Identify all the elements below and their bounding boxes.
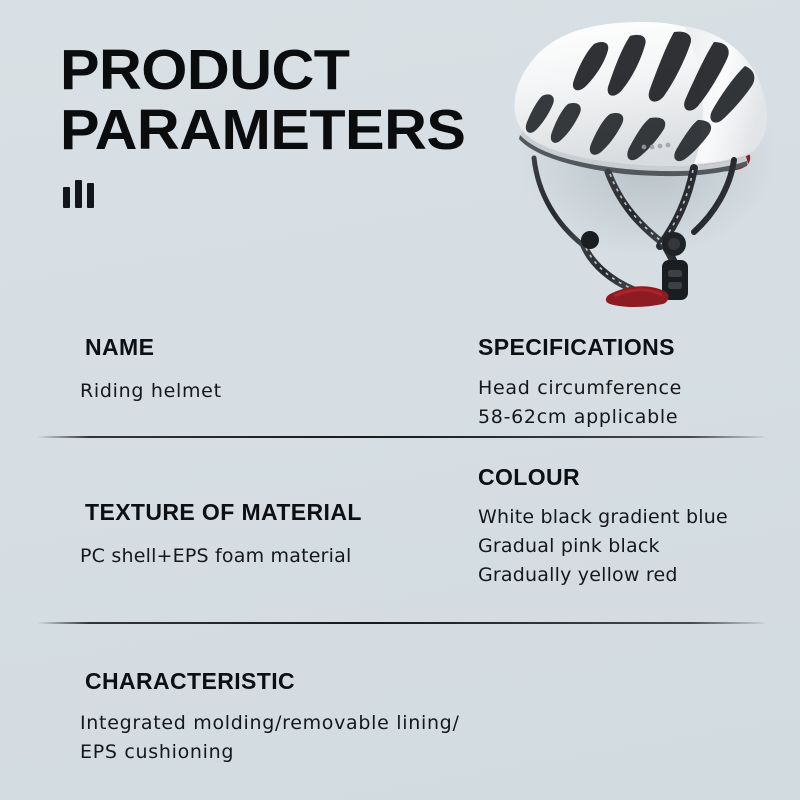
field-specifications-title: SPECIFICATIONS <box>478 334 788 361</box>
field-name-title: NAME <box>85 334 465 361</box>
field-texture-of-material: TEXTURE OF MATERIAL PC shell+EPS foam ma… <box>85 499 465 571</box>
page-title-line-1: PRODUCT <box>60 40 549 100</box>
page-title: PRODUCT PARAMETERS <box>60 40 530 208</box>
page-title-line-2: PARAMETERS <box>60 100 549 160</box>
field-colour-value-2: Gradual pink black <box>478 532 788 561</box>
field-characteristic-value-2: EPS cushioning <box>80 738 745 767</box>
field-specifications: SPECIFICATIONS Head circumference 58-62c… <box>478 334 788 432</box>
divider-2 <box>38 622 764 624</box>
field-texture-of-material-value-1: PC shell+EPS foam material <box>80 542 465 571</box>
field-colour-title: COLOUR <box>478 464 788 491</box>
field-characteristic: CHARACTERISTIC Integrated molding/remova… <box>85 668 745 767</box>
field-specifications-value-1: Head circumference <box>478 374 788 403</box>
field-characteristic-value-1: Integrated molding/removable lining/ <box>80 709 745 738</box>
field-texture-of-material-title: TEXTURE OF MATERIAL <box>85 499 465 526</box>
field-characteristic-title: CHARACTERISTIC <box>85 668 745 695</box>
field-specifications-value-2: 58-62cm applicable <box>478 403 788 432</box>
divider-1 <box>38 436 764 438</box>
three-bars-mark-icon <box>63 178 530 208</box>
product-image-helmet <box>498 8 794 318</box>
field-name: NAME Riding helmet <box>85 334 465 406</box>
field-colour: COLOUR White black gradient blue Gradual… <box>478 464 788 590</box>
product-parameters-infographic: PRODUCT PARAMETERS <box>0 0 800 800</box>
field-colour-value-1: White black gradient blue <box>478 503 788 532</box>
field-name-value-1: Riding helmet <box>80 377 465 406</box>
field-colour-value-3: Gradually yellow red <box>478 561 788 590</box>
